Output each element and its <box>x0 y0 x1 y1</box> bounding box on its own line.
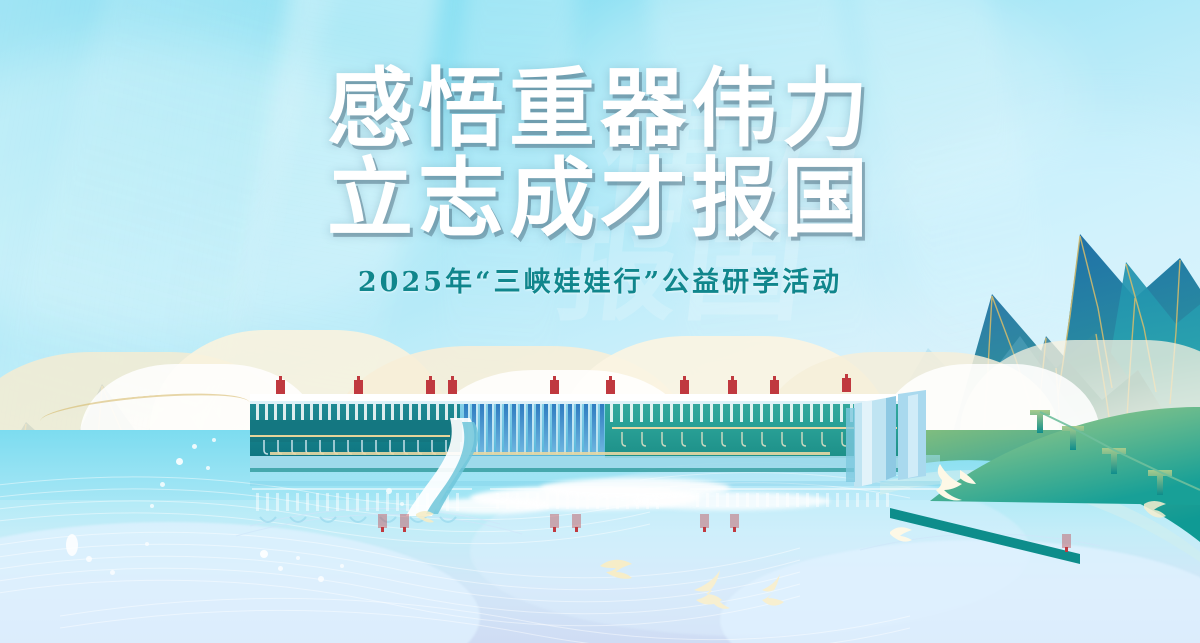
title-line-1: 感悟重器伟力 <box>0 64 1200 154</box>
pylon-red <box>842 378 851 392</box>
water-bubble <box>176 458 183 465</box>
water-bubble <box>340 564 344 568</box>
water-bubble <box>212 438 216 442</box>
flying-swallow <box>414 508 438 531</box>
water-bubble <box>260 550 268 558</box>
flying-swallow <box>888 524 916 551</box>
pylon-reflection <box>378 514 387 528</box>
water-bubble <box>160 482 165 487</box>
pylon-red <box>448 380 457 394</box>
water-bubble <box>296 556 300 560</box>
pylon-red <box>770 380 779 394</box>
flying-swallow <box>1140 498 1170 527</box>
pylon-reflection <box>700 514 709 528</box>
flying-swallow <box>760 572 794 617</box>
flying-swallow <box>692 568 744 619</box>
pylon-reflection <box>400 514 409 528</box>
pylon-reflection <box>550 514 559 528</box>
pylon-red <box>354 380 363 394</box>
transmission-towers <box>1028 404 1200 505</box>
flying-swallow <box>598 556 642 595</box>
three-gorges-dam <box>250 384 930 534</box>
ship-lock-towers <box>846 390 926 488</box>
title-block: 感悟重器伟力 立志成才报国 2025年“三峡娃娃行”公益研学活动 <box>0 64 1200 299</box>
pylon-red <box>426 380 435 394</box>
poster-canvas: 伟力 报国 <box>0 0 1200 643</box>
water-bubble <box>278 566 283 571</box>
poster-subtitle: 2025年“三峡娃娃行”公益研学活动 <box>0 260 1200 299</box>
pylon-reflection <box>572 514 581 528</box>
flying-swallow <box>930 460 978 509</box>
pylon-red <box>276 380 285 394</box>
pylon-red <box>728 380 737 394</box>
water-bubble <box>66 534 78 556</box>
pylon-reflection <box>1062 534 1071 548</box>
pylon-red <box>606 380 615 394</box>
water-bubble <box>110 570 115 575</box>
pylon-red <box>680 380 689 394</box>
title-line-2: 立志成才报国 <box>0 154 1200 244</box>
water-bubble <box>150 504 154 508</box>
water-bubble <box>192 444 197 449</box>
water-bubble <box>86 556 92 562</box>
water-bubble <box>206 466 210 470</box>
dam-detail <box>250 384 930 534</box>
water-bubble <box>145 542 149 546</box>
water-bubble <box>318 576 324 582</box>
pylon-red <box>550 380 559 394</box>
pylon-reflection <box>730 514 739 528</box>
